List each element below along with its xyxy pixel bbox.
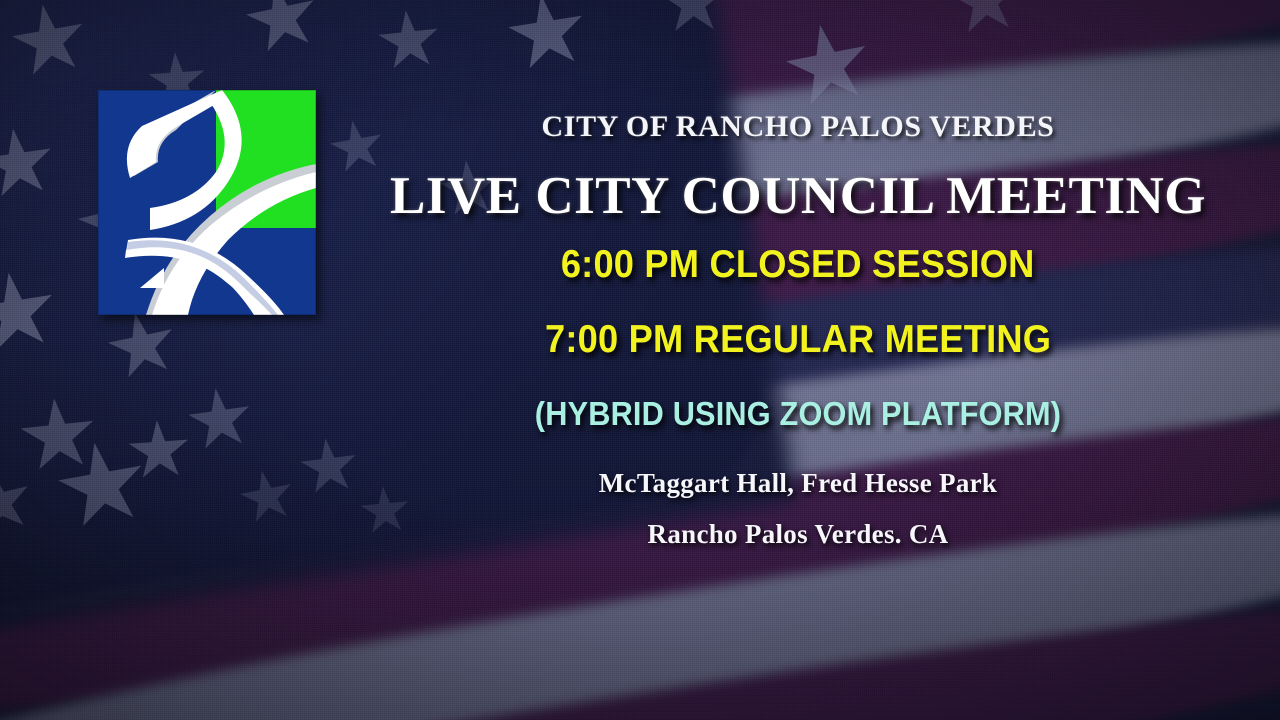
regular-meeting-line: 7:00 PM REGULAR MEETING: [545, 320, 1051, 359]
venue-line-1: McTaggart Hall, Fred Hesse Park: [599, 470, 998, 497]
meeting-info-block: CITY OF RANCHO PALOS VERDES LIVE CITY CO…: [316, 0, 1280, 720]
city-name-line: CITY OF RANCHO PALOS VERDES: [542, 112, 1055, 142]
closed-session-line: 6:00 PM CLOSED SESSION: [561, 245, 1035, 284]
venue-line-2: Rancho Palos Verdes. CA: [648, 521, 949, 548]
platform-note: (HYBRID USING ZOOM PLATFORM): [535, 397, 1061, 430]
city-logo-graphic: [98, 90, 316, 315]
city-logo: [98, 90, 316, 315]
broadcast-slide: CITY OF RANCHO PALOS VERDES LIVE CITY CO…: [0, 0, 1280, 720]
meeting-title: LIVE CITY COUNCIL MEETING: [390, 170, 1206, 223]
